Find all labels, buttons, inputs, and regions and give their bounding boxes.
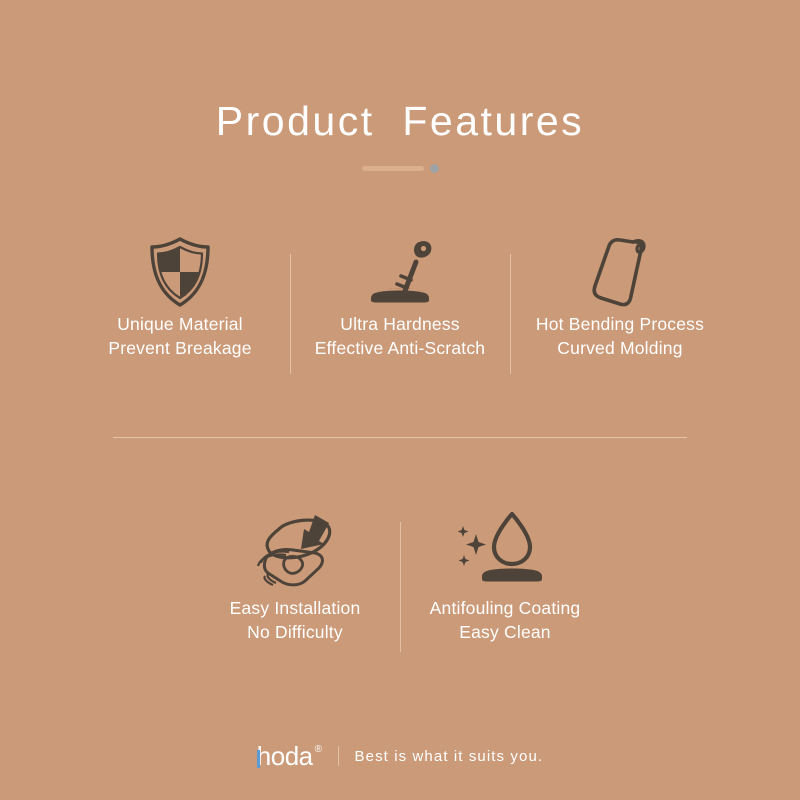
title-divider-dot [430,164,439,173]
caption-line-2: No Difficulty [230,620,361,644]
product-features-page: Product Features [0,0,800,800]
feature-item-hot-bending: Hot Bending Process Curved Molding [510,232,730,360]
feature-row-bottom: Easy Installation No Difficulty [0,500,800,644]
caption-line-2: Curved Molding [536,336,704,360]
feature-caption: Unique Material Prevent Breakage [108,312,251,360]
title-divider [0,164,800,173]
feature-item-antifouling: Antifouling Coating Easy Clean [400,500,610,644]
feature-caption: Antifouling Coating Easy Clean [430,596,581,644]
feature-item-easy-installation: Easy Installation No Difficulty [190,500,400,644]
feature-item-unique-material: Unique Material Prevent Breakage [70,232,290,360]
feature-caption: Ultra Hardness Effective Anti-Scratch [315,312,485,360]
caption-line-2: Easy Clean [430,620,581,644]
water-droplet-sparkle-icon [458,500,552,596]
feature-caption: Hot Bending Process Curved Molding [536,312,704,360]
logo-accent-stem [257,750,260,768]
install-film-arrow-icon [249,500,341,596]
caption-line-1: Unique Material [108,312,251,336]
page-title: Product Features [0,96,800,146]
brand-logo: hoda ® [257,742,322,770]
curved-glass-icon [589,232,651,312]
caption-line-1: Easy Installation [230,596,361,620]
registered-mark-icon: ® [315,745,322,755]
section-divider [113,437,687,438]
caption-line-1: Hot Bending Process [536,312,704,336]
feature-row-top: Unique Material Prevent Breakage [0,232,800,360]
key-hardness-icon [361,232,439,312]
caption-line-2: Prevent Breakage [108,336,251,360]
caption-line-1: Ultra Hardness [315,312,485,336]
title-divider-bar [362,166,424,171]
brand-tagline: Best is what it suits you. [355,748,544,765]
footer-separator [338,746,339,766]
caption-line-1: Antifouling Coating [430,596,581,620]
header: Product Features [0,96,800,173]
shield-icon [147,232,213,312]
caption-line-2: Effective Anti-Scratch [315,336,485,360]
feature-caption: Easy Installation No Difficulty [230,596,361,644]
logo-text: hoda [257,742,313,770]
feature-item-ultra-hardness: Ultra Hardness Effective Anti-Scratch [290,232,510,360]
footer: hoda ® Best is what it suits you. [0,742,800,770]
